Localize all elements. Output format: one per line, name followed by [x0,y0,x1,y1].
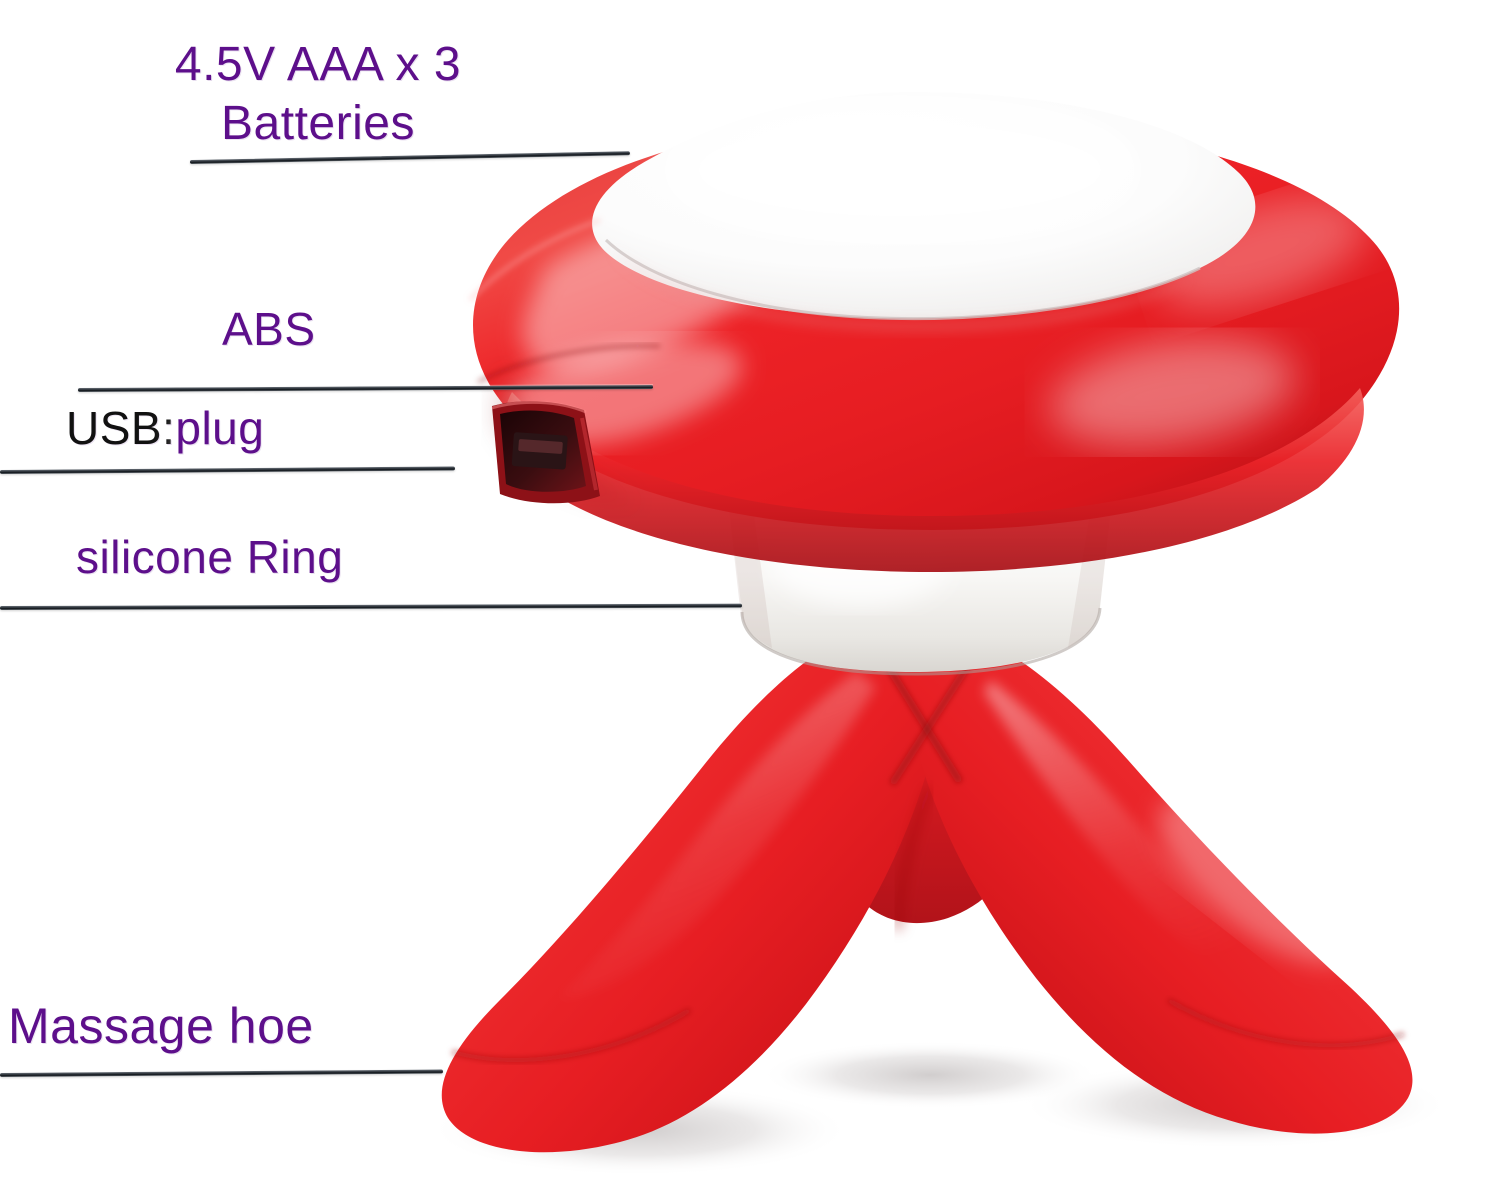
silicone-ring-band [728,458,1112,674]
annotation-plug-word: plug [175,402,264,454]
annotation-label-silicone-ring: silicone Ring [76,530,343,584]
annotation-usb-word: USB [66,402,162,454]
leader-line-batteries [190,151,630,164]
battery-cover-cap [592,92,1255,330]
red-abs-dome-housing [473,118,1399,572]
usb-port [492,401,600,503]
contact-shadow-right [1020,1061,1450,1149]
leader-line-abs [78,385,653,392]
leader-line-silicone-ring [0,604,742,610]
annotation-label-usb-plug: USB:plug [66,401,264,455]
massage-leg-center [830,640,1041,923]
product-annotation-image: 4.5V AAA x 3 Batteries ABS USB:plug sili… [0,0,1500,1188]
annotation-label-abs: ABS [222,302,316,356]
annotation-label-batteries: 4.5V AAA x 3 Batteries [108,36,528,153]
leader-line-usb-plug [0,466,455,474]
annotation-label-massage-hoe: Massage hoe [8,997,314,1055]
annotation-batteries-line1: 4.5V AAA x 3 [108,36,528,95]
annotation-batteries-line2: Batteries [108,95,528,154]
massage-leg-right [910,628,1413,1134]
contact-shadow-left [430,1084,850,1176]
annotation-usb-separator: : [162,402,175,454]
contact-shadow-center [760,1041,1100,1109]
leader-line-massage-hoe [0,1070,443,1077]
massage-leg-left [442,625,937,1152]
